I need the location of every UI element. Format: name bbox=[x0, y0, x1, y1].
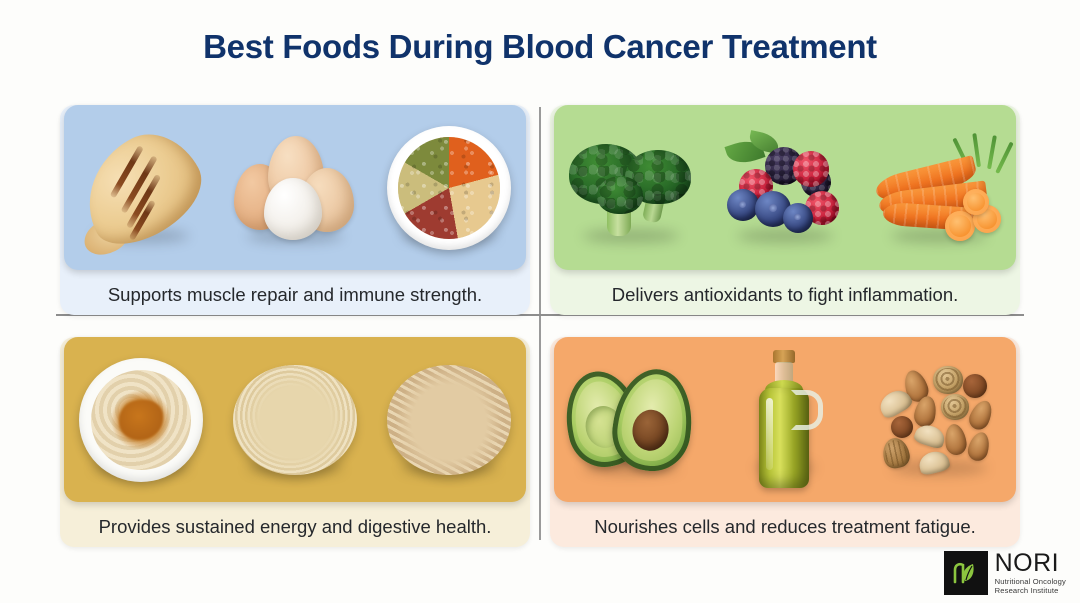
panel-protein: Supports muscle repair and immune streng… bbox=[60, 105, 530, 315]
quinoa-icon bbox=[233, 365, 357, 475]
carrots-icon bbox=[873, 129, 1005, 247]
panel-caption: Provides sustained energy and digestive … bbox=[60, 507, 530, 547]
brown-rice-icon bbox=[387, 365, 511, 475]
food-item-mixed-berries bbox=[718, 120, 853, 255]
panel-grid: Supports muscle repair and immune streng… bbox=[0, 100, 1080, 550]
panel-antioxidants: Delivers antioxidants to fight inflammat… bbox=[550, 105, 1020, 315]
panel-image-card bbox=[64, 337, 526, 502]
food-item-grilled-chicken-breast bbox=[74, 120, 209, 255]
food-item-row bbox=[554, 105, 1016, 270]
food-item-row bbox=[64, 105, 526, 270]
food-item-bowl-of-legumes bbox=[382, 120, 517, 255]
legumes-bowl-icon bbox=[387, 126, 511, 250]
food-item-avocado bbox=[564, 352, 699, 487]
food-item-oatmeal-bowl bbox=[74, 352, 209, 487]
mixed-berries-icon bbox=[721, 133, 849, 243]
nori-logo-subtitle-line2: Research Institute bbox=[995, 587, 1066, 595]
food-item-broccoli bbox=[564, 120, 699, 255]
food-item-carrots bbox=[872, 120, 1007, 255]
grilled-chicken-icon bbox=[65, 117, 216, 258]
panel-image-card bbox=[554, 105, 1016, 270]
broccoli-icon bbox=[567, 132, 695, 244]
panel-caption: Nourishes cells and reduces treatment fa… bbox=[550, 507, 1020, 547]
olive-oil-bottle-icon bbox=[751, 350, 819, 490]
mixed-nuts-icon bbox=[875, 362, 1003, 478]
panel-whole-grains: Provides sustained energy and digestive … bbox=[60, 337, 530, 547]
nori-logo: NORI Nutritional Oncology Research Insti… bbox=[944, 551, 1066, 595]
oatmeal-bowl-icon bbox=[79, 358, 203, 482]
avocado-icon bbox=[566, 363, 696, 477]
infographic-root: Best Foods During Blood Cancer Treatment bbox=[0, 0, 1080, 603]
panel-caption: Supports muscle repair and immune streng… bbox=[60, 275, 530, 315]
panel-image-card bbox=[64, 105, 526, 270]
nori-logo-text: NORI Nutritional Oncology Research Insti… bbox=[995, 551, 1066, 595]
panel-caption: Delivers antioxidants to fight inflammat… bbox=[550, 275, 1020, 315]
page-title: Best Foods During Blood Cancer Treatment bbox=[0, 28, 1080, 66]
nori-logo-subtitle-line1: Nutritional Oncology bbox=[995, 578, 1066, 586]
food-item-olive-oil-bottle bbox=[718, 352, 853, 487]
nori-logo-name: NORI bbox=[995, 551, 1066, 576]
panel-image-card bbox=[554, 337, 1016, 502]
food-item-eggs bbox=[228, 120, 363, 255]
nori-leaf-icon bbox=[944, 551, 988, 595]
food-item-row bbox=[554, 337, 1016, 502]
food-item-mixed-nuts bbox=[872, 352, 1007, 487]
food-item-quinoa bbox=[228, 352, 363, 487]
panel-healthy-fats: Nourishes cells and reduces treatment fa… bbox=[550, 337, 1020, 547]
food-item-row bbox=[64, 337, 526, 502]
food-item-brown-rice bbox=[382, 352, 517, 487]
eggs-icon bbox=[232, 136, 358, 240]
